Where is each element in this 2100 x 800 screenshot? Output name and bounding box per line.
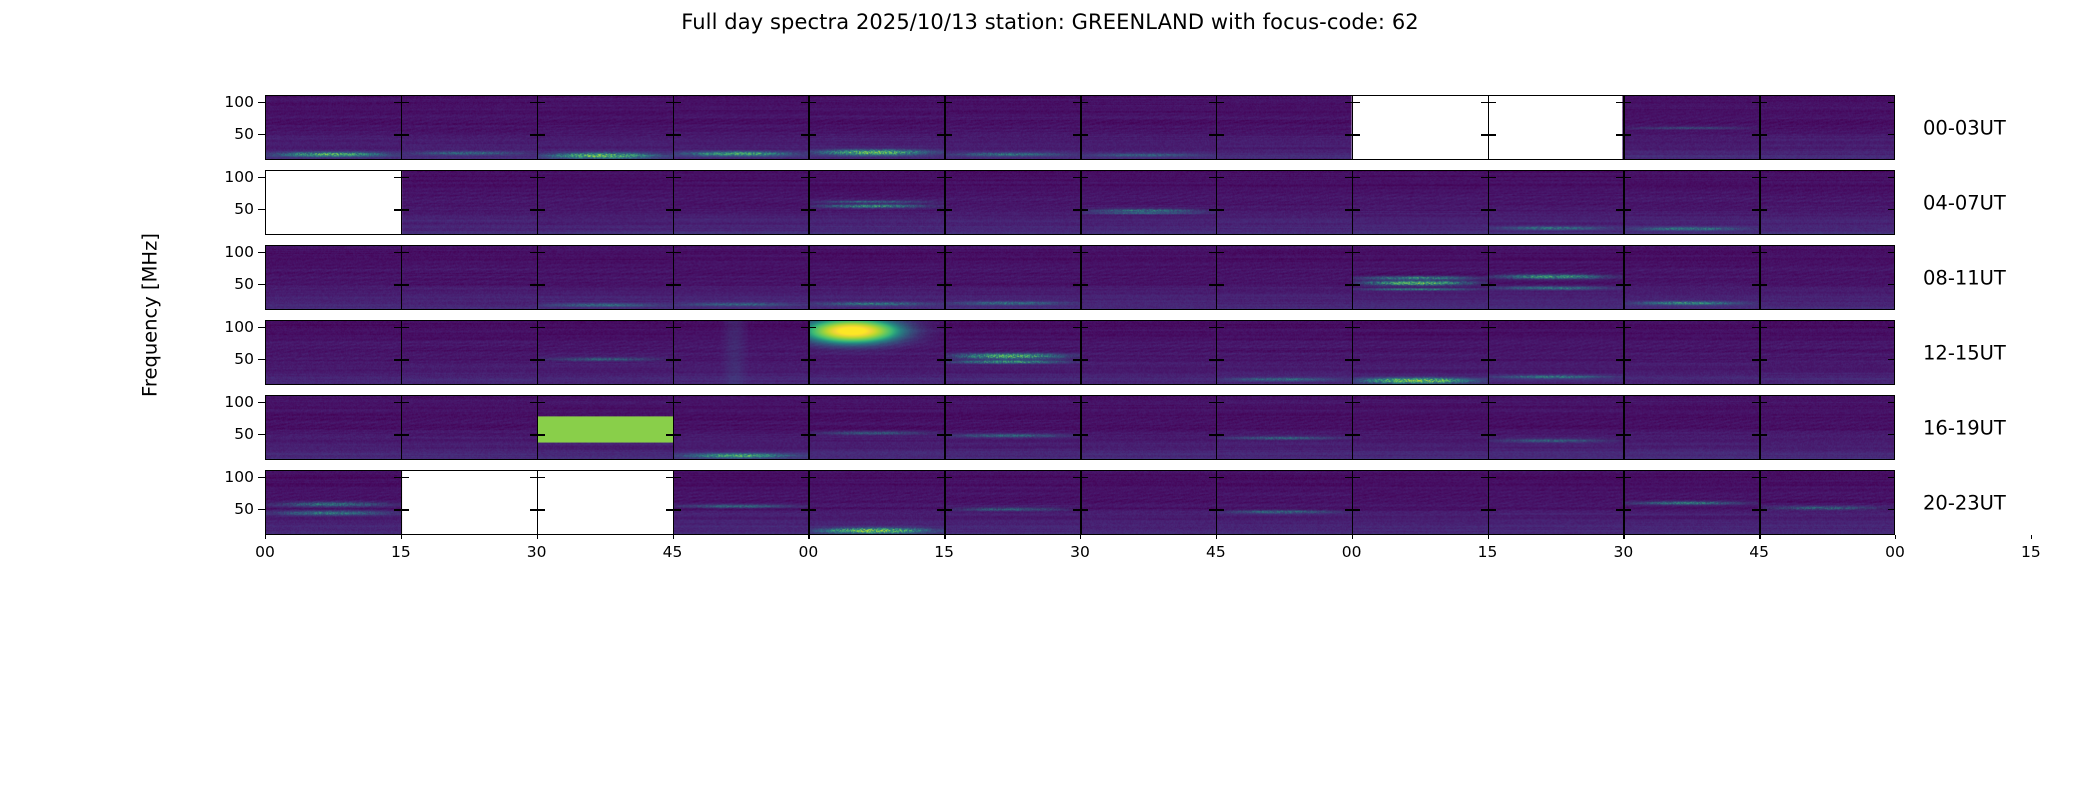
y-tick-mark-inner bbox=[1752, 477, 1759, 479]
y-tick-mark-inner bbox=[945, 477, 952, 479]
panel-separator bbox=[944, 95, 946, 160]
y-tick-mark-inner bbox=[1489, 477, 1496, 479]
y-tick-mark-inner bbox=[1624, 359, 1631, 361]
y-tick-mark-inner bbox=[1616, 209, 1623, 211]
y-tick-label: 100 bbox=[224, 168, 254, 186]
y-tick-mark-inner bbox=[674, 509, 681, 511]
panel-separator bbox=[1759, 395, 1761, 460]
y-tick-mark-inner bbox=[1616, 509, 1623, 511]
x-tick-mark bbox=[1759, 535, 1760, 539]
y-tick-mark-inner bbox=[1217, 477, 1224, 479]
row-label-04-07ut: 04-07UT bbox=[1923, 191, 2006, 214]
y-tick-mark-inner bbox=[1752, 252, 1759, 254]
y-tick-mark-inner bbox=[801, 477, 808, 479]
y-tick-mark-inner bbox=[1209, 102, 1216, 104]
x-tick-label: 00 bbox=[798, 543, 818, 561]
y-tick-mark-inner bbox=[666, 134, 673, 136]
panel-separator bbox=[537, 170, 539, 235]
y-tick-mark-inner bbox=[402, 209, 409, 211]
y-tick-mark-inner bbox=[1345, 477, 1352, 479]
y-tick-mark-inner bbox=[1616, 359, 1623, 361]
y-tick-mark-inner bbox=[1752, 177, 1759, 179]
panel-separator bbox=[1352, 95, 1354, 160]
y-tick-mark-inner bbox=[1624, 402, 1631, 404]
panel-separator bbox=[1216, 395, 1218, 460]
panel-separator bbox=[1352, 395, 1354, 460]
panel-separator bbox=[1352, 170, 1354, 235]
y-tick-mark-inner bbox=[1217, 284, 1224, 286]
y-tick-mark-inner bbox=[937, 209, 944, 211]
y-tick-mark-inner bbox=[1760, 252, 1767, 254]
y-tick-mark-inner bbox=[1217, 509, 1224, 511]
y-tick-mark-inner bbox=[1345, 252, 1352, 254]
y-tick-mark bbox=[258, 209, 265, 210]
y-tick-mark-inner bbox=[666, 359, 673, 361]
panel-separator bbox=[944, 170, 946, 235]
panel-separator bbox=[673, 320, 675, 385]
y-tick-mark-inner bbox=[1073, 252, 1080, 254]
y-tick-mark-inner bbox=[945, 134, 952, 136]
y-tick-mark-inner bbox=[937, 477, 944, 479]
y-tick-mark-inner bbox=[945, 252, 952, 254]
y-tick-mark-inner bbox=[1489, 509, 1496, 511]
row-label-16-19ut: 16-19UT bbox=[1923, 416, 2006, 439]
y-tick-mark-inner bbox=[1217, 252, 1224, 254]
y-axis-label: Frequency [MHz] bbox=[139, 233, 162, 397]
y-tick-mark-inner bbox=[1616, 477, 1623, 479]
y-tick-mark-inner bbox=[530, 102, 537, 104]
y-tick-mark-inner bbox=[1616, 134, 1623, 136]
y-tick-mark-inner bbox=[1073, 284, 1080, 286]
y-tick-mark-inner bbox=[538, 327, 545, 329]
y-tick-mark-inner bbox=[1624, 477, 1631, 479]
y-tick-mark-inner bbox=[1489, 327, 1496, 329]
y-tick-mark-inner bbox=[1209, 177, 1216, 179]
panel-separator bbox=[1352, 470, 1354, 535]
y-tick-mark-inner bbox=[530, 252, 537, 254]
y-tick-mark-inner bbox=[1616, 402, 1623, 404]
y-tick-mark-inner bbox=[1481, 102, 1488, 104]
y-tick-mark-inner bbox=[1353, 509, 1360, 511]
y-tick-mark-inner bbox=[1217, 327, 1224, 329]
y-tick-mark-inner bbox=[945, 509, 952, 511]
y-tick-mark bbox=[258, 134, 265, 135]
y-tick-label: 50 bbox=[234, 275, 254, 293]
y-tick-mark-inner bbox=[1081, 284, 1088, 286]
panel-separator bbox=[1352, 245, 1354, 310]
y-tick-mark-inner bbox=[1209, 477, 1216, 479]
panel-separator bbox=[1623, 395, 1625, 460]
y-tick-mark-inner bbox=[402, 177, 409, 179]
y-tick-mark-inner bbox=[937, 102, 944, 104]
y-tick-mark-inner bbox=[801, 134, 808, 136]
y-tick-mark-inner bbox=[1481, 177, 1488, 179]
y-tick-mark-inner bbox=[1217, 134, 1224, 136]
y-tick-mark-inner bbox=[1209, 284, 1216, 286]
y-tick-mark-inner bbox=[809, 252, 816, 254]
y-tick-mark-inner bbox=[1489, 134, 1496, 136]
y-tick-mark-inner bbox=[538, 434, 545, 436]
y-tick-mark-inner bbox=[1353, 434, 1360, 436]
panel-separator bbox=[1216, 95, 1218, 160]
y-tick-mark-inner bbox=[538, 402, 545, 404]
y-tick-mark bbox=[258, 327, 265, 328]
panel-separator bbox=[944, 395, 946, 460]
x-tick-mark bbox=[673, 535, 674, 539]
y-tick-mark-inner bbox=[402, 509, 409, 511]
panel-separator bbox=[808, 95, 810, 160]
y-tick-mark-inner bbox=[1752, 509, 1759, 511]
y-tick-mark-inner bbox=[1481, 134, 1488, 136]
y-tick-mark-inner bbox=[538, 252, 545, 254]
y-tick-mark-inner bbox=[394, 177, 401, 179]
y-tick-mark-inner bbox=[1752, 102, 1759, 104]
panel-separator bbox=[944, 320, 946, 385]
panel-separator bbox=[944, 470, 946, 535]
y-tick-mark-inner bbox=[1345, 402, 1352, 404]
x-tick-mark bbox=[2031, 535, 2032, 539]
y-tick-mark-inner bbox=[1217, 102, 1224, 104]
x-tick-mark bbox=[1895, 535, 1896, 539]
y-tick-mark-inner bbox=[1081, 327, 1088, 329]
y-tick-mark-inner bbox=[1489, 434, 1496, 436]
y-tick-mark-inner bbox=[809, 477, 816, 479]
y-tick-mark-inner bbox=[1081, 434, 1088, 436]
page-title: Full day spectra 2025/10/13 station: GRE… bbox=[0, 10, 2100, 34]
panel-separator bbox=[808, 170, 810, 235]
panel-separator bbox=[673, 470, 675, 535]
y-tick-mark-inner bbox=[801, 434, 808, 436]
y-tick-mark-inner bbox=[538, 134, 545, 136]
panel-separator bbox=[537, 95, 539, 160]
y-tick-mark-inner bbox=[1209, 134, 1216, 136]
y-tick-mark-right bbox=[1888, 134, 1895, 135]
y-tick-mark-inner bbox=[1760, 402, 1767, 404]
spectrogram-row-00-03ut: 1005000-03UT bbox=[265, 95, 1895, 160]
plot-area: 1005000-03UT1005004-07UT1005008-11UT1005… bbox=[265, 95, 1895, 535]
y-tick-mark-inner bbox=[666, 252, 673, 254]
y-tick-mark-inner bbox=[1209, 209, 1216, 211]
y-tick-mark-inner bbox=[1073, 177, 1080, 179]
y-tick-mark-inner bbox=[394, 252, 401, 254]
spectrogram-row-16-19ut: 1005016-19UT bbox=[265, 395, 1895, 460]
y-tick-mark-inner bbox=[1616, 284, 1623, 286]
panel-separator bbox=[1623, 170, 1625, 235]
y-tick-mark-inner bbox=[1345, 177, 1352, 179]
y-tick-mark-inner bbox=[1353, 477, 1360, 479]
y-tick-label: 50 bbox=[234, 500, 254, 518]
panel-separator bbox=[1352, 320, 1354, 385]
spectrogram-row-12-15ut: 1005012-15UT bbox=[265, 320, 1895, 385]
y-tick-mark-inner bbox=[1353, 102, 1360, 104]
y-tick-mark-inner bbox=[394, 434, 401, 436]
y-tick-mark-inner bbox=[945, 284, 952, 286]
y-tick-mark-inner bbox=[666, 102, 673, 104]
y-tick-mark-inner bbox=[394, 284, 401, 286]
panel-separator bbox=[401, 470, 403, 535]
x-tick-mark bbox=[265, 535, 266, 539]
panel-separator bbox=[1623, 320, 1625, 385]
y-tick-mark-inner bbox=[1353, 177, 1360, 179]
y-tick-mark-inner bbox=[666, 509, 673, 511]
y-tick-mark-inner bbox=[538, 359, 545, 361]
y-tick-mark-inner bbox=[937, 177, 944, 179]
spectrogram-row-04-07ut: 1005004-07UT bbox=[265, 170, 1895, 235]
y-tick-label: 50 bbox=[234, 425, 254, 443]
y-tick-mark-inner bbox=[674, 134, 681, 136]
y-tick-mark-inner bbox=[1760, 177, 1767, 179]
y-tick-mark-inner bbox=[1489, 177, 1496, 179]
panel-separator bbox=[673, 245, 675, 310]
y-tick-mark-inner bbox=[809, 284, 816, 286]
panel-separator bbox=[944, 245, 946, 310]
panel-separator bbox=[1080, 170, 1082, 235]
y-tick-mark-inner bbox=[666, 434, 673, 436]
y-tick-mark-inner bbox=[945, 359, 952, 361]
y-tick-mark bbox=[258, 252, 265, 253]
y-tick-mark-inner bbox=[1752, 284, 1759, 286]
y-tick-mark-inner bbox=[530, 177, 537, 179]
y-tick-mark-inner bbox=[945, 209, 952, 211]
panel-separator bbox=[537, 320, 539, 385]
y-tick-mark-inner bbox=[1616, 177, 1623, 179]
y-tick-mark-inner bbox=[402, 477, 409, 479]
y-tick-mark-inner bbox=[674, 252, 681, 254]
y-tick-mark-inner bbox=[1081, 402, 1088, 404]
y-tick-mark-inner bbox=[1624, 134, 1631, 136]
panel-separator bbox=[1488, 470, 1490, 535]
panel-separator bbox=[673, 395, 675, 460]
y-tick-mark-inner bbox=[1616, 327, 1623, 329]
panel-separator bbox=[1623, 95, 1625, 160]
x-tick-label: 45 bbox=[1749, 543, 1769, 561]
panel-separator bbox=[673, 95, 675, 160]
y-tick-mark-inner bbox=[1209, 359, 1216, 361]
y-tick-mark-right bbox=[1888, 209, 1895, 210]
panel-separator bbox=[1080, 245, 1082, 310]
panel-separator bbox=[1759, 470, 1761, 535]
y-tick-mark-inner bbox=[945, 177, 952, 179]
y-tick-mark-inner bbox=[1081, 102, 1088, 104]
y-tick-mark-inner bbox=[1217, 434, 1224, 436]
y-tick-mark-inner bbox=[1073, 359, 1080, 361]
y-tick-mark-inner bbox=[1489, 252, 1496, 254]
x-tick-label: 15 bbox=[391, 543, 411, 561]
y-tick-mark-inner bbox=[674, 284, 681, 286]
row-label-12-15ut: 12-15UT bbox=[1923, 341, 2006, 364]
y-tick-mark-inner bbox=[394, 359, 401, 361]
y-tick-mark-inner bbox=[666, 177, 673, 179]
y-tick-mark-inner bbox=[1345, 284, 1352, 286]
y-tick-mark-inner bbox=[1616, 102, 1623, 104]
panel-separator bbox=[1759, 245, 1761, 310]
y-tick-mark-inner bbox=[538, 209, 545, 211]
x-tick-mark bbox=[1352, 535, 1353, 539]
y-tick-mark-right bbox=[1888, 327, 1895, 328]
y-tick-mark-inner bbox=[1081, 177, 1088, 179]
x-tick-label: 00 bbox=[1342, 543, 1362, 561]
spectrogram-figure: Full day spectra 2025/10/13 station: GRE… bbox=[0, 0, 2100, 800]
x-tick-label: 00 bbox=[1885, 543, 1905, 561]
y-tick-mark-inner bbox=[402, 252, 409, 254]
y-tick-mark-inner bbox=[1353, 284, 1360, 286]
y-tick-mark-inner bbox=[666, 402, 673, 404]
y-tick-mark-inner bbox=[1489, 359, 1496, 361]
y-tick-mark-inner bbox=[801, 102, 808, 104]
panel-separator bbox=[1216, 470, 1218, 535]
y-tick-mark-inner bbox=[1209, 509, 1216, 511]
y-tick-mark-inner bbox=[1353, 252, 1360, 254]
y-tick-mark-inner bbox=[1353, 209, 1360, 211]
panel-separator bbox=[1759, 320, 1761, 385]
y-tick-mark-inner bbox=[945, 402, 952, 404]
panel-separator bbox=[401, 95, 403, 160]
y-tick-mark-inner bbox=[1752, 359, 1759, 361]
y-tick-mark-inner bbox=[1760, 509, 1767, 511]
y-tick-mark-inner bbox=[1209, 252, 1216, 254]
x-tick-label: 45 bbox=[663, 543, 683, 561]
y-tick-mark-inner bbox=[945, 327, 952, 329]
y-tick-mark-inner bbox=[538, 284, 545, 286]
y-tick-mark-inner bbox=[809, 327, 816, 329]
y-tick-mark-inner bbox=[1209, 327, 1216, 329]
y-tick-mark-inner bbox=[1760, 327, 1767, 329]
y-tick-mark-inner bbox=[1217, 209, 1224, 211]
x-tick-mark bbox=[1216, 535, 1217, 539]
y-tick-label: 50 bbox=[234, 200, 254, 218]
x-tick-mark bbox=[537, 535, 538, 539]
y-tick-mark bbox=[258, 434, 265, 435]
y-tick-mark-inner bbox=[1481, 359, 1488, 361]
y-tick-mark-inner bbox=[1073, 509, 1080, 511]
y-tick-mark-inner bbox=[801, 402, 808, 404]
y-tick-mark-inner bbox=[1489, 284, 1496, 286]
y-tick-mark-inner bbox=[1481, 434, 1488, 436]
y-tick-label: 100 bbox=[224, 393, 254, 411]
y-tick-mark-inner bbox=[801, 284, 808, 286]
panel-separator bbox=[1623, 245, 1625, 310]
panel-separator bbox=[1488, 395, 1490, 460]
y-tick-mark-inner bbox=[1489, 402, 1496, 404]
y-tick-mark bbox=[258, 509, 265, 510]
y-tick-label: 100 bbox=[224, 468, 254, 486]
y-tick-mark-inner bbox=[1345, 209, 1352, 211]
y-tick-mark-inner bbox=[1081, 134, 1088, 136]
y-tick-mark-inner bbox=[538, 102, 545, 104]
y-tick-mark-inner bbox=[1624, 509, 1631, 511]
y-tick-mark-inner bbox=[1760, 284, 1767, 286]
y-tick-mark-inner bbox=[1752, 209, 1759, 211]
y-tick-mark-inner bbox=[1209, 402, 1216, 404]
y-tick-mark-inner bbox=[1345, 359, 1352, 361]
y-tick-mark-inner bbox=[801, 209, 808, 211]
y-tick-mark-inner bbox=[1616, 434, 1623, 436]
y-tick-mark-inner bbox=[1481, 209, 1488, 211]
y-tick-mark-inner bbox=[1073, 434, 1080, 436]
y-tick-mark-right bbox=[1888, 402, 1895, 403]
y-tick-mark-inner bbox=[1752, 327, 1759, 329]
y-tick-mark-inner bbox=[809, 177, 816, 179]
y-tick-mark-inner bbox=[809, 402, 816, 404]
panel-separator bbox=[1080, 470, 1082, 535]
y-tick-mark-right bbox=[1888, 284, 1895, 285]
y-tick-mark-inner bbox=[674, 327, 681, 329]
y-tick-mark-inner bbox=[1624, 434, 1631, 436]
y-tick-mark-inner bbox=[937, 327, 944, 329]
x-tick-mark bbox=[1080, 535, 1081, 539]
panel-separator bbox=[1488, 170, 1490, 235]
panel-separator bbox=[1080, 395, 1082, 460]
y-tick-mark-inner bbox=[1752, 434, 1759, 436]
y-tick-mark-inner bbox=[1624, 284, 1631, 286]
y-tick-mark-inner bbox=[394, 509, 401, 511]
y-tick-mark-inner bbox=[1081, 209, 1088, 211]
y-tick-mark-inner bbox=[1073, 134, 1080, 136]
y-tick-mark-inner bbox=[1345, 134, 1352, 136]
y-tick-mark-inner bbox=[1760, 209, 1767, 211]
y-tick-mark-inner bbox=[1624, 252, 1631, 254]
y-tick-mark-inner bbox=[1345, 327, 1352, 329]
y-tick-mark-inner bbox=[394, 402, 401, 404]
panel-separator bbox=[401, 170, 403, 235]
y-tick-mark-inner bbox=[809, 209, 816, 211]
panel-separator bbox=[1488, 95, 1490, 160]
y-tick-mark-inner bbox=[530, 509, 537, 511]
y-tick-mark-inner bbox=[530, 402, 537, 404]
panel-separator bbox=[1759, 95, 1761, 160]
y-tick-mark-inner bbox=[1760, 134, 1767, 136]
panel-separator bbox=[1080, 95, 1082, 160]
y-tick-mark-inner bbox=[538, 509, 545, 511]
y-tick-mark-inner bbox=[402, 134, 409, 136]
y-tick-mark-right bbox=[1888, 177, 1895, 178]
y-tick-mark-inner bbox=[666, 284, 673, 286]
y-tick-mark-inner bbox=[1073, 327, 1080, 329]
x-tick-label: 30 bbox=[1613, 543, 1633, 561]
panel-separator bbox=[1216, 320, 1218, 385]
y-tick-mark bbox=[258, 177, 265, 178]
y-tick-mark-inner bbox=[666, 209, 673, 211]
y-tick-label: 100 bbox=[224, 243, 254, 261]
y-tick-mark-inner bbox=[1081, 252, 1088, 254]
x-tick-mark bbox=[944, 535, 945, 539]
y-tick-mark-inner bbox=[801, 327, 808, 329]
y-tick-mark-inner bbox=[1481, 327, 1488, 329]
y-tick-mark-inner bbox=[1616, 252, 1623, 254]
panel-separator bbox=[537, 470, 539, 535]
y-tick-mark-inner bbox=[530, 477, 537, 479]
y-tick-mark-inner bbox=[402, 327, 409, 329]
y-tick-mark-inner bbox=[538, 477, 545, 479]
panel-separator bbox=[537, 245, 539, 310]
y-tick-mark-inner bbox=[402, 284, 409, 286]
y-tick-mark-inner bbox=[674, 402, 681, 404]
y-tick-mark-inner bbox=[1345, 509, 1352, 511]
y-tick-mark-inner bbox=[1489, 102, 1496, 104]
y-tick-mark-inner bbox=[394, 327, 401, 329]
y-tick-mark-inner bbox=[801, 252, 808, 254]
y-tick-mark-inner bbox=[809, 134, 816, 136]
y-tick-mark-inner bbox=[1345, 434, 1352, 436]
y-tick-mark-inner bbox=[394, 102, 401, 104]
y-tick-mark-inner bbox=[945, 102, 952, 104]
y-tick-mark-inner bbox=[1209, 434, 1216, 436]
y-tick-mark-inner bbox=[674, 209, 681, 211]
y-tick-mark-right bbox=[1888, 102, 1895, 103]
y-tick-mark-inner bbox=[674, 477, 681, 479]
y-tick-mark-inner bbox=[945, 434, 952, 436]
x-tick-label: 15 bbox=[2021, 543, 2041, 561]
